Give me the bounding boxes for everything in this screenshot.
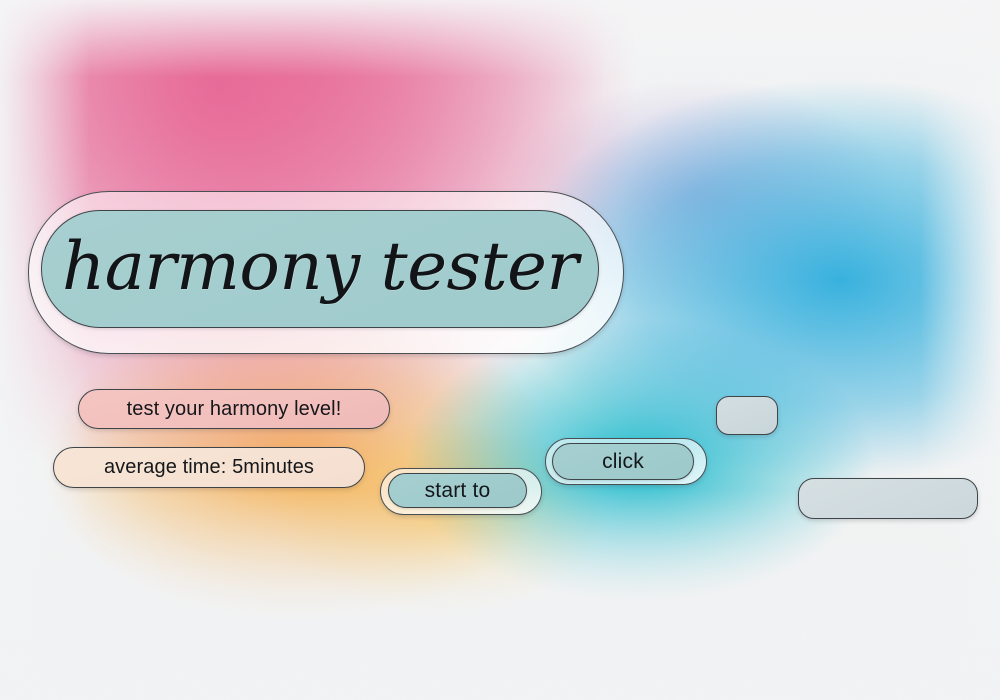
tagline-text: test your harmony level! (127, 398, 342, 421)
average-time-text: average time: 5minutes (104, 456, 314, 479)
click-button-label: click (602, 450, 644, 474)
start-button-face[interactable]: start to (388, 473, 527, 508)
small-empty-field[interactable] (716, 396, 778, 435)
click-button[interactable]: click (545, 438, 705, 483)
title-card: harmony tester (28, 191, 622, 352)
start-button-label: start to (425, 479, 491, 503)
harmony-tester-app: harmony tester test your harmony level! … (0, 0, 1000, 700)
tagline-pill: test your harmony level! (78, 389, 390, 429)
title-card-face: harmony tester (41, 210, 599, 328)
page-title: harmony tester (62, 234, 578, 300)
average-time-pill: average time: 5minutes (53, 447, 365, 488)
wide-empty-field[interactable] (798, 478, 978, 519)
start-button[interactable]: start to (380, 468, 540, 513)
click-button-face[interactable]: click (552, 443, 694, 480)
